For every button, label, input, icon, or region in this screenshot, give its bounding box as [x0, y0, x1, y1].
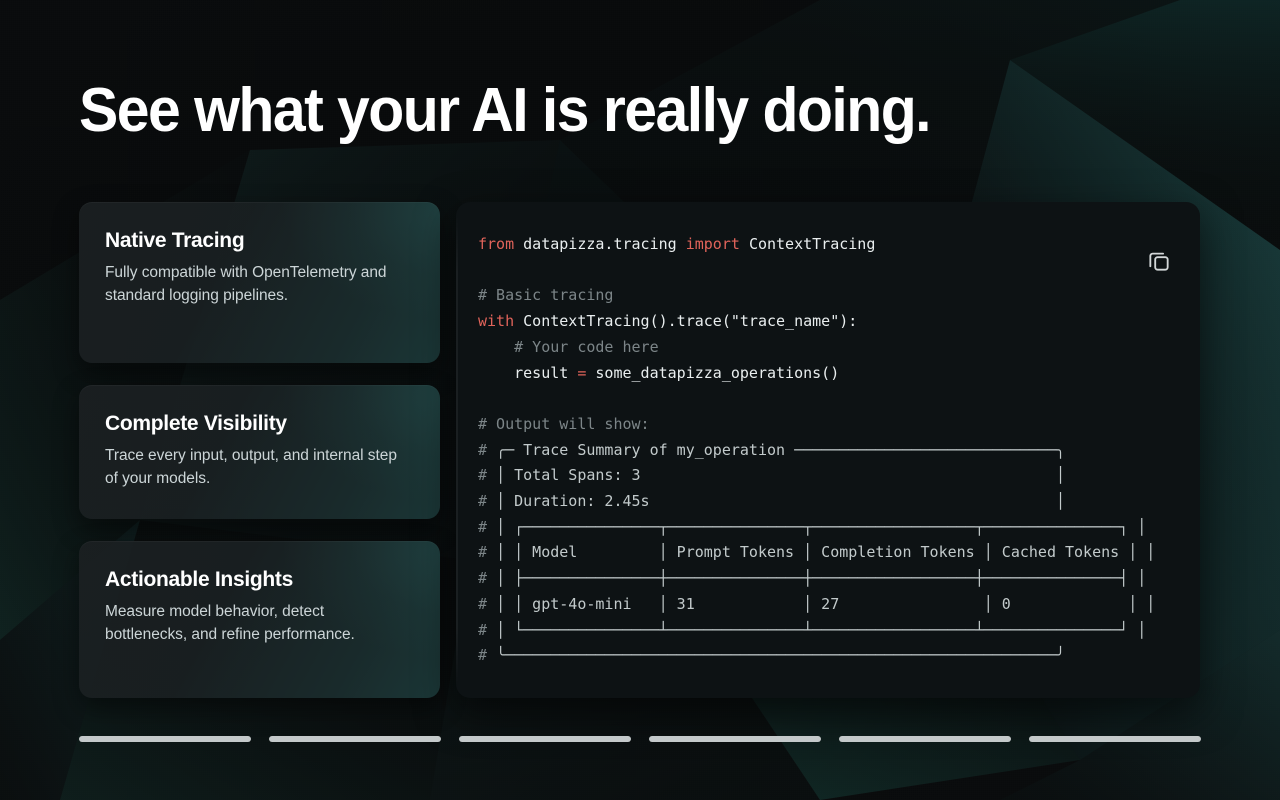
- pagination-dash-4[interactable]: [649, 736, 821, 742]
- code-token: datapizza.tracing: [523, 235, 686, 253]
- feature-card-body: Trace every input, output, and internal …: [105, 445, 405, 490]
- code-token: from: [478, 235, 523, 253]
- pagination-dash-2[interactable]: [269, 736, 441, 742]
- code-token: =: [577, 364, 595, 382]
- code-token: #: [478, 466, 496, 484]
- code-token: # Basic tracing: [478, 286, 613, 304]
- code-scroll-rail[interactable]: [456, 216, 458, 684]
- code-token: ╭─ Trace Summary of my_operation ───────…: [496, 441, 1065, 459]
- code-token: #: [478, 646, 496, 664]
- code-token: #: [478, 543, 496, 561]
- code-token: #: [478, 595, 496, 613]
- code-token: [478, 338, 514, 356]
- feature-card-body: Measure model behavior, detect bottlenec…: [105, 601, 405, 646]
- code-token: # Output will show:: [478, 415, 650, 433]
- code-token: # Your code here: [514, 338, 659, 356]
- code-token: │ ├───────────────┼───────────────┼─────…: [496, 569, 1146, 587]
- feature-card-body: Fully compatible with OpenTelemetry and …: [105, 262, 405, 307]
- code-token: with: [478, 312, 523, 330]
- code-line: with ContextTracing().trace("trace_name"…: [478, 309, 1186, 335]
- pagination-dash-3[interactable]: [459, 736, 631, 742]
- page-headline: See what your AI is really doing.: [79, 74, 1143, 148]
- feature-card-title: Complete Visibility: [105, 411, 416, 437]
- code-line: # │ └───────────────┴───────────────┴───…: [478, 618, 1186, 644]
- code-line: result = some_datapizza_operations(): [478, 361, 1186, 387]
- code-line: # │ Duration: 2.45s │: [478, 489, 1186, 515]
- code-token: #: [478, 492, 496, 510]
- pagination-dash-5[interactable]: [839, 736, 1011, 742]
- code-line: # Output will show:: [478, 412, 1186, 438]
- code-line: from datapizza.tracing import ContextTra…: [478, 232, 1186, 258]
- code-line: # Basic tracing: [478, 283, 1186, 309]
- code-line: [478, 258, 1186, 284]
- code-token: #: [478, 518, 496, 536]
- code-token: result: [478, 364, 577, 382]
- code-line: # │ Total Spans: 3 │: [478, 463, 1186, 489]
- code-text: from datapizza.tracing import ContextTra…: [478, 232, 1186, 669]
- code-token: some_datapizza_operations(): [595, 364, 839, 382]
- code-token: ContextTracing: [749, 235, 875, 253]
- code-line: # Your code here: [478, 335, 1186, 361]
- code-line: [478, 386, 1186, 412]
- code-token: │ Total Spans: 3 │: [496, 466, 1065, 484]
- pagination-dash-6[interactable]: [1029, 736, 1201, 742]
- copy-icon[interactable]: [1146, 248, 1172, 274]
- code-token: │ │ Model │ Prompt Tokens │ Completion T…: [496, 543, 1155, 561]
- feature-card-list: Native Tracing Fully compatible with Ope…: [79, 202, 440, 698]
- code-line: # ╰─────────────────────────────────────…: [478, 643, 1186, 669]
- code-token: │ ┌───────────────┬───────────────┬─────…: [496, 518, 1146, 536]
- code-token: #: [478, 621, 496, 639]
- code-token: #: [478, 569, 496, 587]
- feature-card-title: Native Tracing: [105, 228, 416, 254]
- code-token: ╰───────────────────────────────────────…: [496, 646, 1065, 664]
- code-snippet-panel: from datapizza.tracing import ContextTra…: [456, 202, 1200, 698]
- pagination-dash-1[interactable]: [79, 736, 251, 742]
- feature-card-complete-visibility[interactable]: Complete Visibility Trace every input, o…: [79, 385, 440, 519]
- code-token: ContextTracing().trace("trace_name"):: [523, 312, 857, 330]
- feature-card-native-tracing[interactable]: Native Tracing Fully compatible with Ope…: [79, 202, 440, 363]
- code-token: import: [686, 235, 749, 253]
- pagination-bar: [79, 736, 1201, 744]
- code-line: # │ ├───────────────┼───────────────┼───…: [478, 566, 1186, 592]
- code-token: │ Duration: 2.45s │: [496, 492, 1065, 510]
- code-token: #: [478, 441, 496, 459]
- code-line: # │ │ Model │ Prompt Tokens │ Completion…: [478, 540, 1186, 566]
- feature-card-title: Actionable Insights: [105, 567, 416, 593]
- code-token: │ │ gpt-4o-mini │ 31 │ 27 │ 0 │ │: [496, 595, 1155, 613]
- code-line: # │ ┌───────────────┬───────────────┬───…: [478, 515, 1186, 541]
- code-line: # ╭─ Trace Summary of my_operation ─────…: [478, 438, 1186, 464]
- code-line: # │ │ gpt-4o-mini │ 31 │ 27 │ 0 │ │: [478, 592, 1186, 618]
- feature-card-actionable-insights[interactable]: Actionable Insights Measure model behavi…: [79, 541, 440, 698]
- code-token: │ └───────────────┴───────────────┴─────…: [496, 621, 1146, 639]
